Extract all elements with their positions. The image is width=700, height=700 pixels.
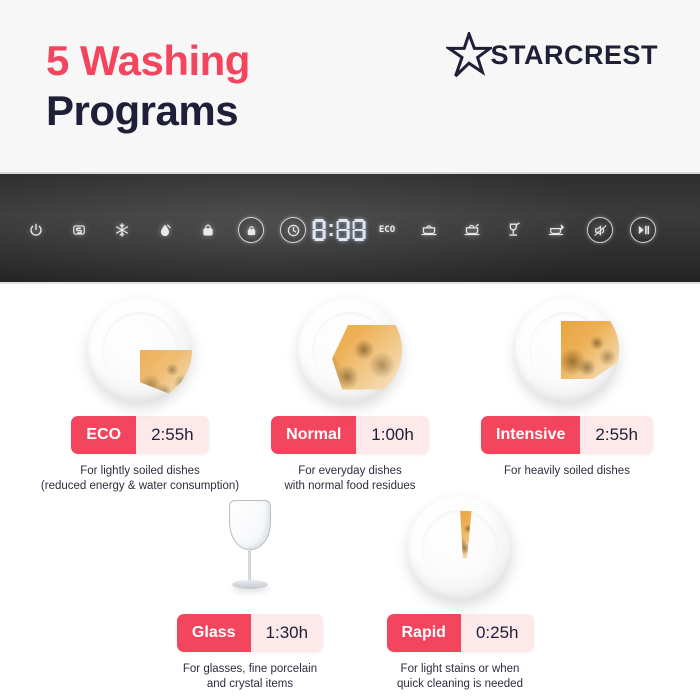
washing-programs-infographic: 5 Washing Programs STARCREST [0, 0, 700, 700]
child-lock-icon[interactable] [238, 217, 264, 243]
pot-program-icon[interactable] [420, 223, 438, 237]
brand-logo: STARCREST [446, 32, 658, 78]
brand-name: STARCREST [490, 40, 658, 71]
mute-icon[interactable] [587, 217, 613, 243]
program-label-eco[interactable]: ECO 2:55h [71, 416, 208, 454]
program-art-rapid [350, 496, 570, 600]
description-line-1: For lightly soiled dishes [10, 464, 270, 479]
program-description-glass: For glasses, fine porcelain and crystal … [140, 662, 360, 692]
dishwasher-control-panel[interactable]: 8:88 ECO [0, 172, 700, 284]
description-line-2: (reduced energy & water consumption) [10, 479, 270, 494]
salt-refill-icon[interactable] [72, 223, 87, 237]
glass-foot [232, 580, 268, 589]
program-duration: 0:25h [461, 614, 534, 652]
play-pause-icon[interactable] [630, 217, 656, 243]
program-description-intensive: For heavily soiled dishes [447, 464, 687, 479]
plate-icon [298, 298, 402, 402]
program-label-normal[interactable]: Normal 1:00h [271, 416, 429, 454]
wine-glass-icon [220, 496, 280, 600]
program-art-normal [240, 298, 460, 402]
program-card-eco[interactable]: ECO 2:55h For lightly soiled dishes (red… [10, 298, 270, 494]
program-description-normal: For everyday dishes with normal food res… [240, 464, 460, 494]
led-time-display: 8:88 [313, 219, 366, 241]
food-residue [140, 350, 192, 402]
program-duration: 2:55h [580, 416, 653, 454]
page-title: 5 Washing Programs [46, 36, 250, 136]
delay-timer-clock-icon[interactable] [280, 217, 306, 243]
program-card-normal[interactable]: Normal 1:00h For everyday dishes with no… [240, 298, 460, 494]
program-description-rapid: For light stains or when quick cleaning … [350, 662, 570, 692]
star-icon [446, 32, 492, 78]
program-card-intensive[interactable]: Intensive 2:55h For heavily soiled dishe… [447, 298, 687, 479]
food-residue [302, 325, 402, 389]
description-line-1: For glasses, fine porcelain [140, 662, 360, 677]
program-card-glass[interactable]: Glass 1:30h For glasses, fine porcelain … [140, 496, 360, 692]
description-line-2: quick cleaning is needed [350, 677, 570, 692]
program-duration: 1:00h [356, 416, 429, 454]
plate-icon [408, 496, 512, 600]
program-art-glass [140, 496, 360, 600]
description-line-1: For everyday dishes [240, 464, 460, 479]
title-line-2: Programs [46, 86, 250, 136]
title-line-1: 5 Washing [46, 36, 250, 86]
food-residue [454, 511, 477, 559]
led-digit [336, 219, 349, 241]
food-residue [561, 321, 619, 379]
led-digit [352, 219, 365, 241]
plate-icon [515, 298, 619, 402]
pan-program-icon[interactable] [463, 223, 481, 237]
glass-program-icon[interactable] [506, 222, 522, 238]
snowflake-half-load-icon[interactable] [115, 223, 130, 238]
program-name: Glass [177, 614, 251, 652]
program-name: Rapid [387, 614, 461, 652]
program-name: Normal [271, 416, 356, 454]
description-line-2: with normal food residues [240, 479, 460, 494]
quick-program-icon[interactable] [548, 223, 566, 237]
header: 5 Washing Programs STARCREST [0, 0, 700, 172]
description-line-1: For light stains or when [350, 662, 570, 677]
power-icon[interactable] [29, 223, 44, 238]
plate-icon [88, 298, 192, 402]
program-duration: 2:55h [136, 416, 209, 454]
program-label-intensive[interactable]: Intensive 2:55h [481, 416, 653, 454]
program-duration: 1:30h [251, 614, 324, 652]
program-grid: ECO 2:55h For lightly soiled dishes (red… [0, 284, 700, 700]
program-name: ECO [71, 416, 136, 454]
description-line-1: For heavily soiled dishes [447, 464, 687, 479]
description-line-2: and crystal items [140, 677, 360, 692]
rinse-aid-drop-icon[interactable] [158, 222, 172, 238]
glass-bowl [229, 500, 271, 550]
lock-icon[interactable] [202, 222, 215, 238]
led-digit [313, 219, 326, 241]
led-colon [330, 224, 333, 236]
program-label-glass[interactable]: Glass 1:30h [177, 614, 323, 652]
program-art-intensive [447, 298, 687, 402]
program-art-eco [10, 298, 270, 402]
program-name: Intensive [481, 416, 580, 454]
program-card-rapid[interactable]: Rapid 0:25h For light stains or when qui… [350, 496, 570, 692]
eco-mode-label: ECO [379, 225, 395, 235]
program-description-eco: For lightly soiled dishes (reduced energ… [10, 464, 270, 494]
program-label-rapid[interactable]: Rapid 0:25h [387, 614, 534, 652]
glass-stem [248, 548, 251, 582]
